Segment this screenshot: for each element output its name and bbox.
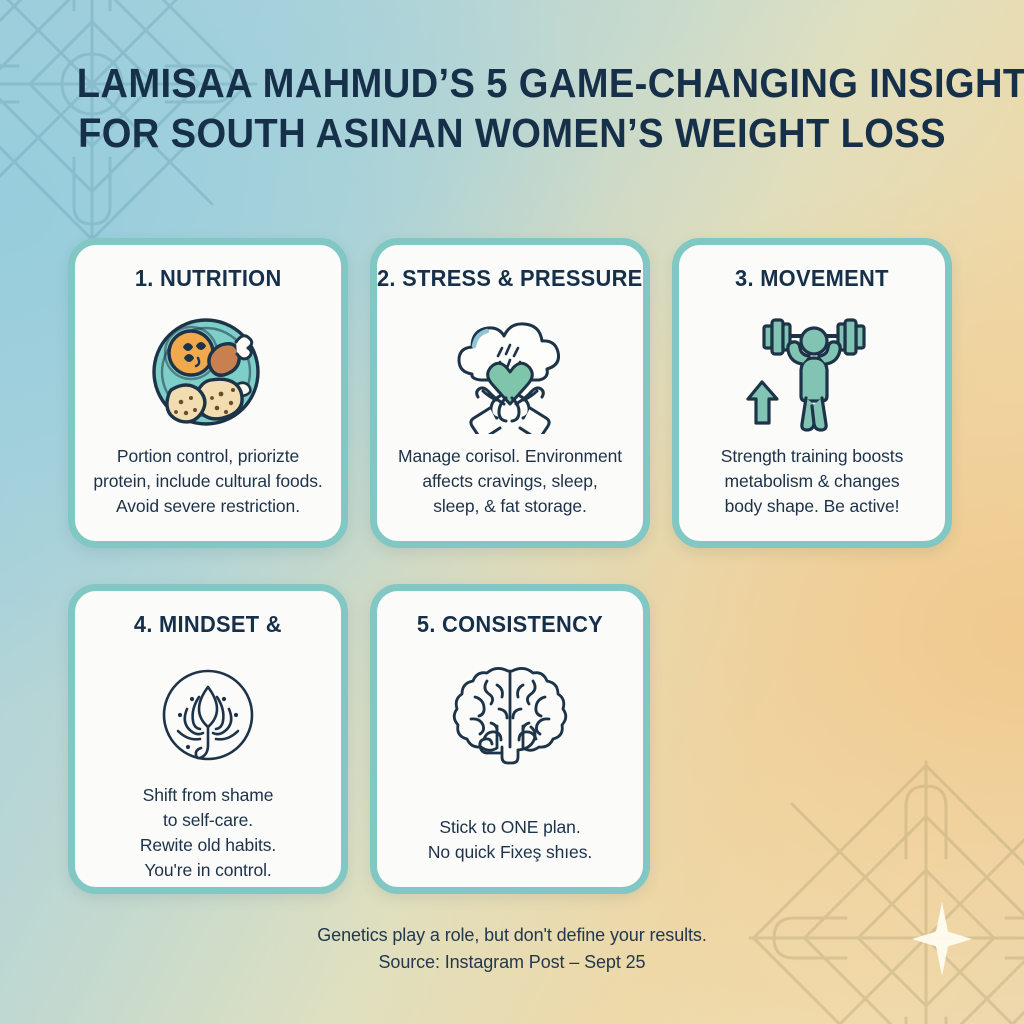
insight-card-consistency: 5. CONSISTENCY	[370, 584, 650, 894]
card-title-consistency: 5. CONSISTENCY	[417, 611, 603, 637]
brain-icon	[451, 651, 569, 783]
card-body-mindset: Shift from shame to self-care. Rewite ol…	[140, 783, 276, 883]
card-body-nutrition: Portion control, priorizte protein, incl…	[93, 444, 322, 519]
infographic-poster: LAMISAA MAHMUD’S 5 GAME-CHANGING INSIGHT…	[0, 0, 1024, 1024]
insight-card-mindset: 4. MINDSET &	[68, 584, 348, 894]
card-body-stress-pressure: Manage corisol. Environment affects crav…	[398, 444, 622, 519]
insight-card-stress-pressure: 2. STRESS & PRESSURE Ma	[370, 238, 650, 548]
lotus-circle-icon	[150, 651, 266, 783]
poster-footer: Genetics play a role, but don't define y…	[0, 922, 1024, 976]
poster-title-line-2: FOR SOUTH ASINAN WOMEN’S WEIGHT LOSS	[77, 108, 947, 158]
poster-title: LAMISAA MAHMUD’S 5 GAME-CHANGING INSIGHT…	[0, 58, 1024, 158]
footer-note: Genetics play a role, but don't define y…	[0, 922, 1024, 949]
card-title-stress-pressure: 2. STRESS & PRESSURE	[377, 265, 643, 291]
poster-title-line-1: LAMISAA MAHMUD’S 5 GAME-CHANGING INSIGHT…	[77, 58, 947, 108]
card-title-mindset: 4. MINDSET &	[134, 611, 282, 637]
insight-card-movement: 3. MOVEMENT	[672, 238, 952, 548]
insight-card-nutrition: 1. NUTRITION	[68, 238, 348, 548]
insight-cards-grid: 1. NUTRITION	[68, 238, 963, 894]
card-body-movement: Strength training boosts metabolism & ch…	[721, 444, 903, 519]
card-body-consistency: Stick to ONE plan. No quick Fixeş shıes.	[428, 815, 592, 865]
cloud-hands-heart-icon	[444, 305, 576, 437]
footer-source: Source: Instagram Post – Sept 25	[0, 949, 1024, 976]
weightlifter-icon	[742, 305, 882, 437]
plate-of-food-icon	[143, 305, 273, 437]
card-title-nutrition: 1. NUTRITION	[135, 265, 282, 291]
card-title-movement: 3. MOVEMENT	[735, 265, 889, 291]
